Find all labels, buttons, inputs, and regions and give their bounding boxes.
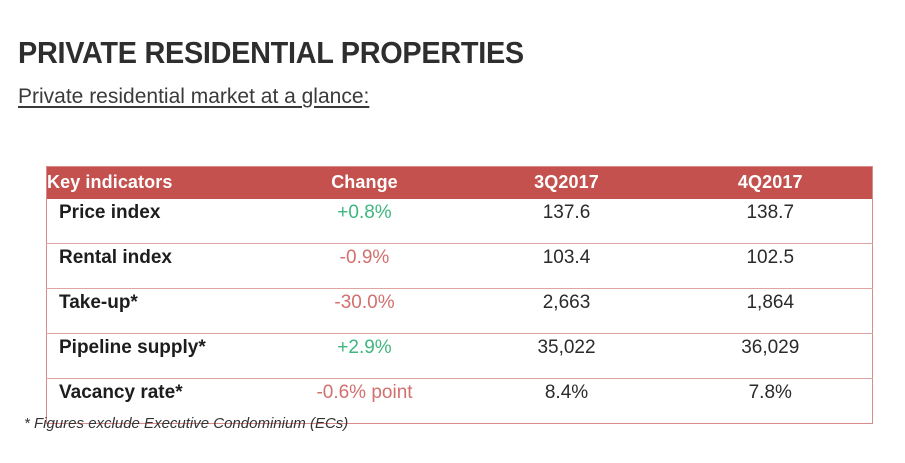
column-header-key-indicators: Key indicators (47, 167, 265, 200)
cell-4q2017: 7.8% (669, 379, 873, 424)
column-header-change: Change (265, 167, 465, 200)
cell-indicator: Pipeline supply* (47, 334, 265, 379)
column-header-3q2017: 3Q2017 (465, 167, 669, 200)
key-indicators-table: Key indicators Change 3Q2017 4Q2017 Pric… (46, 166, 873, 424)
cell-4q2017: 1,864 (669, 289, 873, 334)
cell-change: -30.0% (265, 289, 465, 334)
cell-4q2017: 36,029 (669, 334, 873, 379)
table-header-row: Key indicators Change 3Q2017 4Q2017 (47, 167, 873, 200)
column-header-4q2017: 4Q2017 (669, 167, 873, 200)
cell-3q2017: 137.6 (465, 199, 669, 244)
cell-indicator: Take-up* (47, 289, 265, 334)
page-title: PRIVATE RESIDENTIAL PROPERTIES (18, 35, 524, 71)
cell-3q2017: 8.4% (465, 379, 669, 424)
cell-3q2017: 35,022 (465, 334, 669, 379)
cell-change: +2.9% (265, 334, 465, 379)
table-row: Take-up* -30.0% 2,663 1,864 (47, 289, 873, 334)
page-root: PRIVATE RESIDENTIAL PROPERTIES Private r… (0, 0, 905, 463)
cell-change: +0.8% (265, 199, 465, 244)
cell-4q2017: 102.5 (669, 244, 873, 289)
cell-4q2017: 138.7 (669, 199, 873, 244)
cell-indicator: Price index (47, 199, 265, 244)
cell-3q2017: 2,663 (465, 289, 669, 334)
table-row: Rental index -0.9% 103.4 102.5 (47, 244, 873, 289)
cell-3q2017: 103.4 (465, 244, 669, 289)
table-row: Price index +0.8% 137.6 138.7 (47, 199, 873, 244)
table-footnote: * Figures exclude Executive Condominium … (24, 415, 348, 432)
table-row: Pipeline supply* +2.9% 35,022 36,029 (47, 334, 873, 379)
indicators-table-container: Key indicators Change 3Q2017 4Q2017 Pric… (46, 166, 872, 424)
table-body: Price index +0.8% 137.6 138.7 Rental ind… (47, 199, 873, 424)
table-header: Key indicators Change 3Q2017 4Q2017 (47, 167, 873, 200)
page-subtitle: Private residential market at a glance: (18, 84, 369, 110)
cell-change: -0.9% (265, 244, 465, 289)
cell-indicator: Rental index (47, 244, 265, 289)
